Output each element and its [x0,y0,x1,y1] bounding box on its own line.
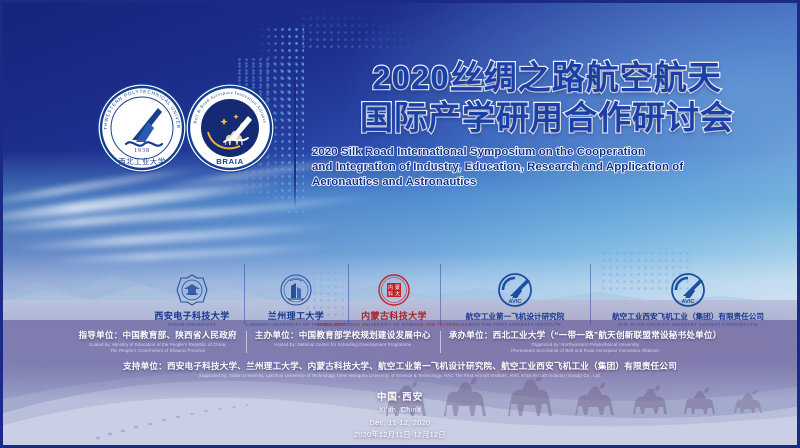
banner-frame-border [0,0,800,448]
conference-banner: NORTHWESTERN POLYTECHNICAL UNIVERSITY 19… [0,0,800,448]
